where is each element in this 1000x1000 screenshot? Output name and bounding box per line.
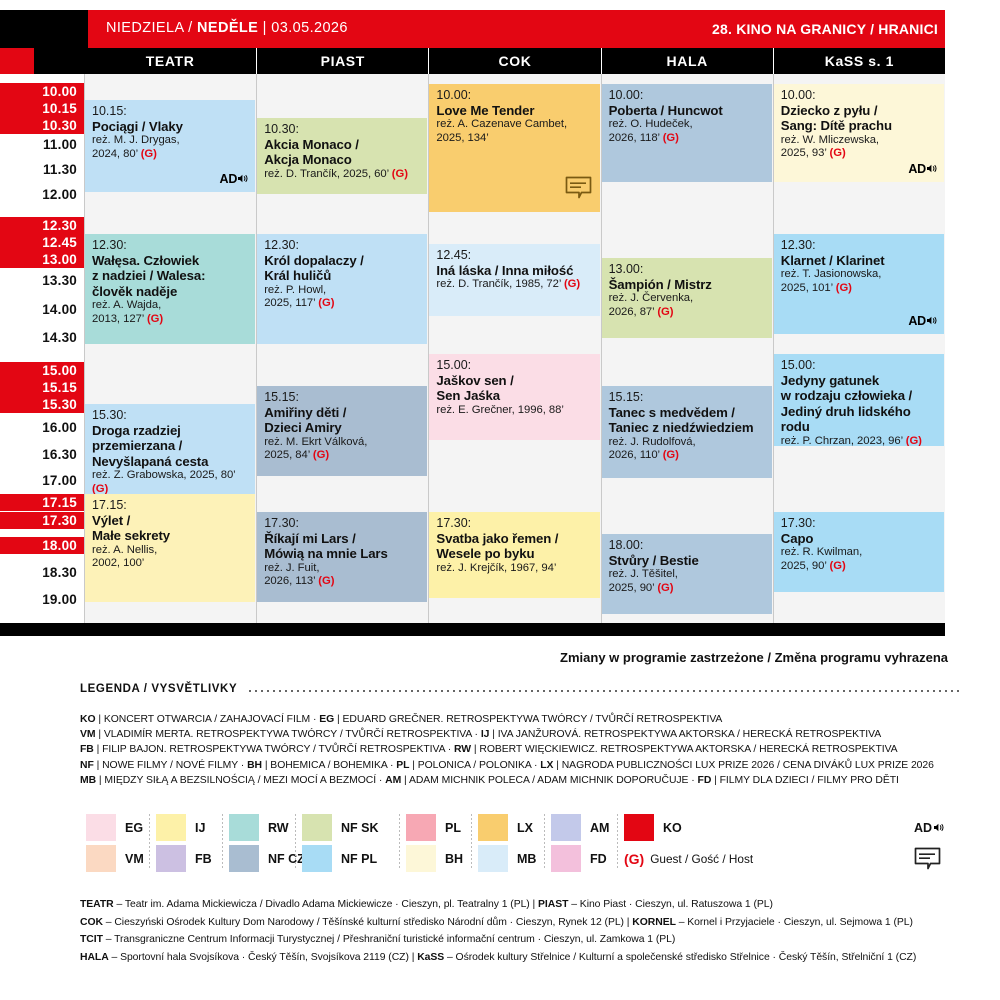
time-label-13-30: 13.30 — [0, 272, 84, 289]
color-key-row-2: VMFBNF CZNF PLBHMBFD(G)Guest / Gość / Ho… — [86, 843, 966, 874]
venue-address: – Transgraniczne Centrum Informacji Tury… — [103, 934, 675, 945]
color-key-item-vm: VM — [86, 843, 144, 874]
event-title-line2: przemierzana / — [92, 438, 249, 454]
color-key-item-am: AM — [551, 812, 609, 843]
guest-marker: (G) — [564, 278, 580, 290]
venue-address: – Teatr im. Adama Mickiewicza / Divadlo … — [114, 899, 538, 910]
event-credit: reż. M. J. Drygas, — [92, 134, 249, 147]
guest-marker: (G) — [313, 449, 329, 461]
key-divider — [471, 814, 472, 868]
legend-code: PL — [396, 760, 409, 771]
color-key-subtitles — [914, 843, 941, 874]
event-title: Król dopalaczy / — [264, 253, 421, 269]
color-key-item-nf-pl: NF PL — [302, 843, 377, 874]
event-title: Jaškov sen / — [436, 373, 593, 389]
venue-header-label: COK — [499, 53, 532, 69]
top-header-bar: NIEDZIELA / NEDĚLE | 03.05.2026 28. KINO… — [0, 10, 1000, 48]
guest-marker: (G) — [663, 132, 679, 144]
time-label-10-00: 10.00 — [0, 83, 84, 100]
color-key-label: AM — [590, 821, 609, 835]
event-block[interactable]: 15.15:Tanec s medvědem /Taniec z niedźwi… — [602, 386, 772, 478]
header-black-block — [0, 10, 88, 48]
venue-code: COK — [80, 917, 103, 928]
legend-text: | MIĘDZY SIŁĄ A BEZSILNOŚCIĄ / MEZI MOCÍ… — [96, 775, 385, 786]
legend-line: NF | NOWE FILMY / NOVÉ FILMY · BH | BOHE… — [80, 758, 960, 773]
color-key-label: NF PL — [341, 852, 377, 866]
event-block[interactable]: 15.00:Jaškov sen /Sen Jaśkareż. E. Grečn… — [429, 354, 599, 440]
guest-marker: (G) — [657, 582, 673, 594]
guest-marker-symbol: (G) — [624, 851, 644, 867]
event-credit: reż. A. Nellis, — [92, 544, 249, 557]
time-label-17-15: 17.15 — [0, 494, 84, 511]
key-divider — [222, 814, 223, 868]
color-key-label: VM — [125, 852, 144, 866]
venue-row-red-stub — [0, 48, 34, 74]
event-time: 12.45: — [436, 248, 593, 263]
key-divider — [544, 814, 545, 868]
legend-text: | ROBERT WIĘCKIEWICZ. RETROSPEKTYWA AKTO… — [471, 744, 898, 755]
event-credit: reż. Z. Grabowska, 2025, 80’ (G) — [92, 469, 249, 494]
event-credit-line2: 2025, 117’ (G) — [264, 297, 421, 310]
event-block[interactable]: 12.45:Iná láska / Inna miłośćreż. D. Tra… — [429, 244, 599, 316]
color-key: EGIJRWNF SKPLLXAMKOAD VMFBNF CZNF PLBHMB… — [86, 812, 966, 874]
footnote-line: HALA – Sportovní hala Svojsíkova · Český… — [80, 949, 980, 967]
event-time: 10.30: — [264, 122, 421, 137]
color-swatch — [302, 845, 332, 872]
event-title: Amiřiny děti / — [264, 405, 421, 421]
venue-code: PIAST — [538, 899, 568, 910]
event-time: 15.15: — [609, 390, 766, 405]
event-title: Love Me Tender — [436, 103, 593, 119]
legend-text: | EDUARD GREČNER. RETROSPEKTYWA TWÓRCY /… — [334, 714, 722, 725]
event-credit-line2: 2026, 113’ (G) — [264, 575, 421, 588]
time-label-15-00: 15.00 — [0, 362, 84, 379]
time-label-15-30: 15.30 — [0, 396, 84, 413]
event-credit: reż. W. Mliczewska, — [781, 134, 938, 147]
event-time: 17.30: — [781, 516, 938, 531]
event-title-line2: Dzieci Amiry — [264, 420, 421, 436]
event-title: Wałęsa. Człowiek — [92, 253, 249, 269]
footnote-line: TCIT – Transgraniczne Centrum Informacji… — [80, 931, 980, 949]
color-key-item-nf-sk: NF SK — [302, 812, 379, 843]
legend-code: FB — [80, 744, 94, 755]
color-key-label: IJ — [195, 821, 205, 835]
time-label-19-00: 19.00 — [0, 591, 84, 608]
event-credit-line2: 2026, 118’ (G) — [609, 132, 766, 145]
venue-header-teatr[interactable]: TEATR — [84, 48, 256, 74]
audio-description-icon: AD — [908, 162, 937, 177]
event-time: 10.00: — [436, 88, 593, 103]
color-key-label: EG — [125, 821, 143, 835]
event-title: Výlet / — [92, 513, 249, 529]
event-title-line2: Sang: Dítě prachu — [781, 118, 938, 134]
legend-line: MB | MIĘDZY SIŁĄ A BEZSILNOŚCIĄ / MEZI M… — [80, 773, 960, 788]
event-time: 10.00: — [609, 88, 766, 103]
time-label-18-00: 18.00 — [0, 537, 84, 554]
event-title: Jedyny gatunek — [781, 373, 938, 389]
event-credit-line2: 2026, 110’ (G) — [609, 449, 766, 462]
event-title: Tanec s medvědem / — [609, 405, 766, 421]
color-swatch — [156, 814, 186, 841]
venue-header-label: TEATR — [146, 53, 195, 69]
venue-address: – Cieszyński Ośrodek Kultury Dom Narodow… — [103, 917, 632, 928]
color-key-item-fb: FB — [156, 843, 212, 874]
event-block[interactable]: 12.30:Wałęsa. Człowiekz nadziei / Walesa… — [85, 234, 255, 344]
program-poster: NIEDZIELA / NEDĚLE | 03.05.2026 28. KINO… — [0, 0, 1000, 1000]
color-swatch — [229, 814, 259, 841]
time-label-18-30: 18.30 — [0, 564, 84, 581]
event-title-line2: z nadziei / Walesa: — [92, 268, 249, 284]
legend-dotted-rule — [247, 690, 960, 692]
grid-bottom-bar — [0, 623, 945, 636]
event-block[interactable]: 10.00:Love Me Tenderreż. A. Cazenave Cam… — [429, 84, 599, 212]
time-label-10-30: 10.30 — [0, 117, 84, 134]
event-credit: reż. J. Krejčík, 1967, 94’ — [436, 562, 593, 575]
guest-marker: (G) — [147, 313, 163, 325]
color-key-item-bh: BH — [406, 843, 463, 874]
color-swatch — [551, 845, 581, 872]
color-key-row-1: EGIJRWNF SKPLLXAMKOAD — [86, 812, 966, 843]
event-time: 12.30: — [264, 238, 421, 253]
event-block[interactable]: 13.00:Šampión / Mistrzreż. J. Červenka,2… — [602, 258, 772, 338]
color-key-label: NF SK — [341, 821, 379, 835]
time-label-11-30: 11.30 — [0, 161, 84, 178]
legend-text: | BOHEMICA / BOHEMIKA · — [262, 760, 396, 771]
venue-code: KORNEL — [632, 917, 676, 928]
venue-header-label: HALA — [667, 53, 708, 69]
venue-header-cok[interactable]: COK — [428, 48, 600, 74]
venue-code: TCIT — [80, 934, 103, 945]
legend-text: | NOWE FILMY / NOVÉ FILMY · — [94, 760, 247, 771]
event-title: Svatba jako řemen / — [436, 531, 593, 547]
legend-code: BH — [247, 760, 262, 771]
event-title: Klarnet / Klarinet — [781, 253, 938, 269]
event-block[interactable]: 10.30:Akcia Monaco /Akcja Monacoreż. D. … — [257, 118, 427, 194]
venue-footnotes: TEATR – Teatr im. Adama Mickiewicza / Di… — [80, 896, 980, 966]
event-credit-line2: 2025, 101’ (G) — [781, 282, 938, 295]
color-key-item-eg: EG — [86, 812, 143, 843]
date-day-cz: NEDĚLE — [197, 20, 258, 36]
color-swatch — [478, 845, 508, 872]
event-block[interactable]: 15.00:Jedyny gatunekw rodzaju człowieka … — [774, 354, 944, 446]
event-credit: reż. A. Wajda, — [92, 299, 249, 312]
time-label-12-30: 12.30 — [0, 217, 84, 234]
event-time: 17.30: — [264, 516, 421, 531]
legend-code: KO — [80, 714, 96, 725]
event-title: Poberta / Huncwot — [609, 103, 766, 119]
color-swatch — [406, 845, 436, 872]
time-label-17-30: 17.30 — [0, 512, 84, 529]
venue-address: – Kornel i Przyjaciele · Cieszyn, ul. Se… — [676, 917, 913, 928]
time-label-12-00: 12.00 — [0, 186, 84, 203]
guest-marker: (G) — [836, 282, 852, 294]
venue-address: – Sportovní hala Svojsíkova · Český Těší… — [109, 952, 418, 963]
legend-code: VM — [80, 729, 96, 740]
event-title-line2: Akcja Monaco — [264, 152, 421, 168]
venue-header-row: TEATRPIASTCOKHALAKaSS s. 1 — [0, 48, 1000, 74]
event-title: Droga rzadziej — [92, 423, 249, 439]
schedule-grid: 10.0010.1510.3011.0011.3012.0012.3012.45… — [0, 74, 945, 623]
event-time: 15.00: — [436, 358, 593, 373]
legend-code: LX — [540, 760, 553, 771]
legend-line: FB | FILIP BAJON. RETROSPEKTYWA TWÓRCY /… — [80, 742, 960, 757]
event-block[interactable]: 15.30:Droga rzadziejprzemierzana /Nevyšl… — [85, 404, 255, 494]
event-block[interactable]: 17.30:Říkají mi Lars /Mówią na mnie Lars… — [257, 512, 427, 602]
color-key-label: NF CZ — [268, 852, 305, 866]
color-swatch — [478, 814, 508, 841]
event-time: 15.30: — [92, 408, 249, 423]
guest-marker: (G) — [392, 168, 408, 180]
event-title-line2: Král huličů — [264, 268, 421, 284]
event-time: 12.30: — [781, 238, 938, 253]
guest-marker: (G) — [92, 483, 108, 494]
event-title-line3: Jediný druh lidského rodu — [781, 404, 938, 435]
event-credit-line2: 2013, 127’ (G) — [92, 313, 249, 326]
color-key-item-lx: LX — [478, 812, 533, 843]
legend-line: VM | VLADIMÍR MERTA. RETROSPEKTYWA TWÓRC… — [80, 727, 960, 742]
event-title-line2: Małe sekrety — [92, 528, 249, 544]
color-swatch — [86, 814, 116, 841]
event-title: Akcia Monaco / — [264, 137, 421, 153]
legend-header: LEGENDA / VYSVĚTLIVKY — [80, 681, 960, 697]
key-divider — [149, 814, 150, 868]
color-key-item-nf-cz: NF CZ — [229, 843, 305, 874]
legend-code: MB — [80, 775, 96, 786]
event-title-line2: Taniec z niedźwiedziem — [609, 420, 766, 436]
event-title-line2: w rodzaju człowieka / — [781, 388, 938, 404]
event-credit: reż. A. Cazenave Cambet, — [436, 118, 593, 131]
event-title: Říkají mi Lars / — [264, 531, 421, 547]
event-block[interactable]: 17.30:Svatba jako řemen /Wesele po bykur… — [429, 512, 599, 598]
legend-code: NF — [80, 760, 94, 771]
event-time: 15.15: — [264, 390, 421, 405]
event-credit-line2: 2002, 100’ — [92, 557, 249, 570]
event-credit: reż. E. Grečner, 1996, 88’ — [436, 404, 593, 417]
color-swatch — [229, 845, 259, 872]
event-time: 10.00: — [781, 88, 938, 103]
color-key-label: MB — [517, 852, 536, 866]
time-label-10-15: 10.15 — [0, 100, 84, 117]
venue-code: KaSS — [417, 952, 444, 963]
legend-abbreviations: KO | KONCERT OTWARCIA / ZAHAJOVACÍ FILM … — [80, 712, 960, 788]
event-credit: reż. O. Hudeček, — [609, 118, 766, 131]
key-divider — [617, 814, 618, 868]
time-label-16-00: 16.00 — [0, 419, 84, 436]
subtitles-icon — [565, 176, 592, 206]
color-swatch — [302, 814, 332, 841]
event-block[interactable]: 17.30:Caporeż. R. Kwilman,2025, 90’ (G) — [774, 512, 944, 592]
guest-marker: (G) — [141, 148, 157, 160]
guest-marker: (G) — [663, 449, 679, 461]
guest-marker: (G) — [318, 297, 334, 309]
event-block[interactable]: 17.15:Výlet /Małe sekretyreż. A. Nellis,… — [85, 494, 255, 602]
event-time: 13.00: — [609, 262, 766, 277]
venue-code: TEATR — [80, 899, 114, 910]
event-time: 17.30: — [436, 516, 593, 531]
event-credit: reż. D. Trančík, 1985, 72’ (G) — [436, 278, 593, 291]
time-label-16-30: 16.30 — [0, 446, 84, 463]
event-title-line2: Sen Jaśka — [436, 388, 593, 404]
legend-text: | IVA JANŽUROVÁ. RETROSPEKTYWA AKTORSKA … — [489, 729, 881, 740]
color-key-audio-description: AD — [914, 812, 944, 843]
time-label-15-15: 15.15 — [0, 379, 84, 396]
event-credit-line2: 2025, 90’ (G) — [609, 582, 766, 595]
audio-wave-icon — [933, 822, 944, 833]
event-credit: reż. P. Chrzan, 2023, 96’ (G) — [781, 435, 938, 446]
event-credit-line2: 2026, 87’ (G) — [609, 306, 766, 319]
legend-text: | FILIP BAJON. RETROSPEKTYWA TWÓRCY / TV… — [94, 744, 454, 755]
event-title: Iná láska / Inna miłość — [436, 263, 593, 279]
event-title-line3: Nevyšlapaná cesta — [92, 454, 249, 470]
venue-header-kass[interactable]: KaSS s. 1 — [773, 48, 945, 74]
legend-text: | ADAM MICHNIK POLECA / ADAM MICHNIK DOP… — [401, 775, 697, 786]
event-title-line2: Mówią na mnie Lars — [264, 546, 421, 562]
event-block[interactable]: 15.15:Amiřiny děti /Dzieci Amiryreż. M. … — [257, 386, 427, 476]
ad-legend-label: AD — [914, 821, 932, 835]
event-time: 18.00: — [609, 538, 766, 553]
color-swatch — [551, 814, 581, 841]
date-separator: | — [258, 20, 271, 36]
guest-marker-text: Guest / Gość / Host — [650, 852, 753, 866]
color-swatch — [86, 845, 116, 872]
color-key-item-fd: FD — [551, 843, 607, 874]
key-divider — [399, 814, 400, 868]
guest-marker: (G) — [830, 147, 846, 159]
venue-header-label: PIAST — [321, 53, 365, 69]
event-time: 10.15: — [92, 104, 249, 119]
venue-header-hala[interactable]: HALA — [601, 48, 773, 74]
color-key-label: RW — [268, 821, 289, 835]
event-block[interactable]: 12.30:Klarnet / Klarinetreż. T. Jasionow… — [774, 234, 944, 334]
color-key-label: FB — [195, 852, 212, 866]
color-key-item-rw: RW — [229, 812, 289, 843]
color-key-guest: (G)Guest / Gość / Host — [624, 843, 753, 874]
event-credit: reż. D. Trančík, 2025, 60’ (G) — [264, 168, 421, 181]
event-title: Stvůry / Bestie — [609, 553, 766, 569]
festival-title: 28. KINO NA GRANICY / HRANICI — [712, 21, 938, 37]
subtitles-icon — [914, 847, 941, 871]
event-credit: reż. J. Červenka, — [609, 292, 766, 305]
venue-header-label: KaSS s. 1 — [825, 53, 894, 69]
guest-marker: (G) — [830, 560, 846, 572]
time-label-14-00: 14.00 — [0, 301, 84, 318]
guest-marker: (G) — [318, 575, 334, 587]
footnote-line: TEATR – Teatr im. Adama Mickiewicza / Di… — [80, 896, 980, 914]
color-swatch — [156, 845, 186, 872]
color-key-label: PL — [445, 821, 461, 835]
time-label-12-45: 12.45 — [0, 234, 84, 251]
event-title: Dziecko z pyłu / — [781, 103, 938, 119]
legend-text: | FILMY DLA DZIECI / FILMY PRO DĚTI — [711, 775, 899, 786]
header-date: NIEDZIELA / NEDĚLE | 03.05.2026 — [106, 20, 348, 36]
event-credit-line2: 2024, 80’ (G) — [92, 148, 249, 161]
legend-text: | NAGRODA PUBLICZNOŚCI LUX PRIZE 2026 / … — [553, 760, 933, 771]
color-swatch — [624, 814, 654, 841]
time-label-11-00: 11.00 — [0, 136, 84, 153]
color-key-label: FD — [590, 852, 607, 866]
key-divider — [295, 814, 296, 868]
legend-line: KO | KONCERT OTWARCIA / ZAHAJOVACÍ FILM … — [80, 712, 960, 727]
event-title: Capo — [781, 531, 938, 547]
legend-code: RW — [454, 744, 471, 755]
event-title-line3: člověk naděje — [92, 284, 249, 300]
event-block[interactable]: 10.00:Dziecko z pyłu /Sang: Dítě prachur… — [774, 84, 944, 182]
event-credit: reż. J. Fuit, — [264, 562, 421, 575]
color-key-item-mb: MB — [478, 843, 536, 874]
event-credit-line2: 2025, 84’ (G) — [264, 449, 421, 462]
footnote-line: COK – Cieszyński Ośrodek Kultury Dom Nar… — [80, 914, 980, 932]
event-block[interactable]: 10.15:Pociągi / Vlakyreż. M. J. Drygas,2… — [85, 100, 255, 192]
event-block[interactable]: 10.00:Poberta / Huncwotreż. O. Hudeček,2… — [602, 84, 772, 182]
legend-code: AM — [385, 775, 401, 786]
event-credit-line2: 2025, 134’ — [436, 132, 593, 145]
guest-marker: (G) — [906, 435, 922, 446]
header-white-gutter — [945, 10, 1000, 48]
legend-text: | VLADIMÍR MERTA. RETROSPEKTYWA TWÓRCY /… — [96, 729, 481, 740]
event-time: 15.00: — [781, 358, 938, 373]
venue-address: – Ośrodek kultury Střelnice / Kulturní a… — [444, 952, 916, 963]
date-day-pl: NIEDZIELA / — [106, 20, 197, 36]
event-block[interactable]: 18.00:Stvůry / Bestiereż. J. Těšitel,202… — [602, 534, 772, 614]
event-credit: reż. M. Ekrt Válková, — [264, 436, 421, 449]
legend-code: FD — [698, 775, 712, 786]
color-key-label: KO — [663, 821, 682, 835]
event-title-line2: Wesele po byku — [436, 546, 593, 562]
color-key-item-ij: IJ — [156, 812, 205, 843]
legend-text: | POLONICA / POLONIKA · — [409, 760, 540, 771]
event-credit-line2: 2025, 90’ (G) — [781, 560, 938, 573]
event-title: Šampión / Mistrz — [609, 277, 766, 293]
color-key-label: BH — [445, 852, 463, 866]
event-credit: reż. T. Jasionowska, — [781, 268, 938, 281]
legend-text: | KONCERT OTWARCIA / ZAHAJOVACÍ FILM · — [96, 714, 320, 725]
color-swatch — [406, 814, 436, 841]
program-change-notice: Zmiany w programie zastrzeżone / Změna p… — [560, 650, 948, 665]
date-value: 03.05.2026 — [271, 20, 348, 36]
venue-header-piast[interactable]: PIAST — [256, 48, 428, 74]
event-block[interactable]: 12.30:Król dopalaczy /Král huličůreż. P.… — [257, 234, 427, 344]
color-key-item-pl: PL — [406, 812, 461, 843]
legend-code: EG — [319, 714, 334, 725]
event-credit: reż. R. Kwilman, — [781, 546, 938, 559]
legend-header-label: LEGENDA / VYSVĚTLIVKY — [80, 683, 237, 695]
time-label-17-00: 17.00 — [0, 472, 84, 489]
audio-description-icon: AD — [908, 314, 937, 329]
event-title: Pociągi / Vlaky — [92, 119, 249, 135]
color-key-item-ko: KO — [624, 812, 682, 843]
event-credit: reż. J. Těšitel, — [609, 568, 766, 581]
color-key-label: LX — [517, 821, 533, 835]
venue-address: – Kino Piast · Cieszyn, ul. Ratuszowa 1 … — [568, 899, 773, 910]
event-credit: reż. P. Howl, — [264, 284, 421, 297]
audio-description-icon: AD — [220, 172, 249, 187]
event-time: 17.15: — [92, 498, 249, 513]
event-credit-line2: 2025, 93’ (G) — [781, 147, 938, 160]
guest-marker: (G) — [657, 306, 673, 318]
time-label-14-30: 14.30 — [0, 329, 84, 346]
venue-code: HALA — [80, 952, 109, 963]
event-time: 12.30: — [92, 238, 249, 253]
time-label-13-00: 13.00 — [0, 251, 84, 268]
event-credit: reż. J. Rudolfová, — [609, 436, 766, 449]
